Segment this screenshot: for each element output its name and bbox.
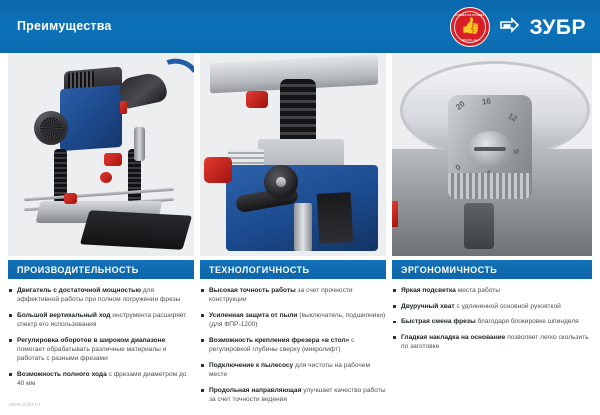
column-body-ergonomics: Яркая подсветка места работы Двуручный х… bbox=[392, 279, 592, 352]
column-heading-ergonomics: ЭРГОНОМИЧНОСТЬ bbox=[392, 260, 592, 279]
bullet-bold: Усиленная защита от пыли bbox=[209, 312, 297, 319]
bullet-bold: Регулировка оборотов в широком диапазоне bbox=[17, 337, 165, 344]
list-item: Регулировка оборотов в широком диапазоне… bbox=[8, 336, 194, 364]
bullet-bold: Гладкая накладка на основание bbox=[401, 334, 505, 341]
left-margin bbox=[0, 53, 8, 256]
depth-lock-lever bbox=[104, 153, 122, 166]
collet-marker bbox=[100, 172, 112, 183]
bullet-bold: Двуручный хват bbox=[401, 303, 455, 310]
depth-rod bbox=[134, 127, 145, 161]
column-heading-performance: ПРОИЗВОДИТЕЛЬНОСТЬ bbox=[8, 260, 194, 279]
turret-number-0: 0 bbox=[454, 163, 463, 173]
bullet-bold: Быстрая смена фрезы bbox=[401, 318, 476, 325]
router-bit bbox=[294, 203, 312, 251]
side-red-knob bbox=[204, 157, 232, 183]
base-slot bbox=[464, 203, 494, 249]
list-item: Двуручный хват с удлиненной основной рук… bbox=[392, 302, 592, 311]
list-item: Продольная направляющая улучшает качеств… bbox=[200, 386, 386, 404]
upper-red-knob bbox=[246, 91, 268, 108]
turret-number-20: 20 bbox=[454, 99, 467, 112]
bullet-bold: Большой вертикальный ход bbox=[17, 312, 110, 319]
trigger-button bbox=[120, 101, 127, 114]
thumbs-up-icon: 👍 bbox=[461, 19, 481, 35]
quality-badge: ЛУЧШЕЕ ИЗ ЛУЧШЕГО 👍 МАРКА №1 bbox=[450, 7, 490, 47]
zubr-arrow-icon bbox=[499, 17, 520, 38]
list-item: Большой вертикальный ход инструмента рас… bbox=[8, 311, 194, 329]
speed-dial-knob bbox=[34, 111, 68, 145]
column-ergonomics: ЭРГОНОМИЧНОСТЬ Яркая подсветка места раб… bbox=[392, 260, 592, 358]
adjust-wheel bbox=[264, 165, 298, 199]
router-mechanism-closeup bbox=[200, 53, 386, 256]
spec-label bbox=[317, 192, 354, 244]
red-edge-accent bbox=[392, 201, 398, 227]
bullet-rest: помогает обрабатывать различные материал… bbox=[17, 346, 166, 362]
column-body-technology: Высокая точность работы за счет прочност… bbox=[200, 279, 386, 404]
brand-name: ЗУБР bbox=[529, 17, 586, 38]
page-header: Преимущества ЛУЧШЕЕ ИЗ ЛУЧШЕГО 👍 МАРКА №… bbox=[0, 0, 600, 53]
badge-text-bottom: МАРКА №1 bbox=[451, 39, 489, 42]
image-gap-2 bbox=[386, 53, 392, 256]
column-performance: ПРОИЗВОДИТЕЛЬНОСТЬ Двигатель с достаточн… bbox=[8, 260, 194, 395]
bullet-rest: места работы bbox=[456, 287, 500, 294]
bullet-bold: Высокая точность работы bbox=[209, 287, 296, 294]
list-item: Двигатель с достаточной мощностью для эф… bbox=[8, 286, 194, 304]
list-item: Гладкая накладка на основание позволяет … bbox=[392, 333, 592, 351]
router-body bbox=[60, 85, 122, 151]
bullet-bold: Возможность крепления фрезера «в стол» bbox=[209, 337, 349, 344]
footer-website-url[interactable]: www.zubr.ru bbox=[9, 402, 40, 408]
parallel-fence bbox=[80, 210, 192, 249]
turret-center-screw bbox=[468, 131, 512, 167]
turret-number-8: 8 bbox=[511, 147, 521, 155]
brand-logo: ЛУЧШЕЕ ИЗ ЛУЧШЕГО 👍 МАРКА №1 ЗУБР bbox=[450, 7, 586, 47]
list-item: Яркая подсветка места работы bbox=[392, 286, 592, 295]
list-item: Возможность полного хода с фрезами диаме… bbox=[8, 370, 194, 388]
turret-number-16: 16 bbox=[481, 96, 491, 106]
product-image-row: 20 16 12 8 4 0 bbox=[0, 53, 600, 256]
bullet-bold: Яркая подсветка bbox=[401, 287, 456, 294]
rail-clamp-knob bbox=[64, 193, 77, 204]
bullet-bold: Подключение к пылесосу bbox=[209, 362, 293, 369]
bullet-bold: Продольная направляющая bbox=[209, 387, 301, 394]
badge-text-top: ЛУЧШЕЕ ИЗ ЛУЧШЕГО bbox=[451, 14, 489, 17]
image-gap-1 bbox=[194, 53, 200, 256]
benefits-columns: ПРОИЗВОДИТЕЛЬНОСТЬ Двигатель с достаточн… bbox=[0, 260, 600, 390]
column-body-performance: Двигатель с достаточной мощностью для эф… bbox=[8, 279, 194, 388]
bullet-rest: с удлиненной основной рукояткой bbox=[455, 303, 561, 310]
page-title: Преимущества bbox=[17, 19, 112, 33]
column-heading-technology: ТЕХНОЛОГИЧНОСТЬ bbox=[200, 260, 386, 279]
bullet-bold: Возможность полного хода bbox=[17, 371, 107, 378]
list-item: Усиленная защита от пыли (выключатель, п… bbox=[200, 311, 386, 329]
depth-turret-closeup: 20 16 12 8 4 0 bbox=[392, 53, 592, 256]
list-item: Подключение к пылесосу для чистоты на ра… bbox=[200, 361, 386, 379]
bullet-rest: благодаря блокировке шпинделя bbox=[476, 318, 579, 325]
screw-slot bbox=[474, 147, 506, 151]
turret-number-12: 12 bbox=[506, 111, 518, 123]
plunge-router-full-view bbox=[8, 53, 194, 256]
list-item: Возможность крепления фрезера «в стол» с… bbox=[200, 336, 386, 354]
list-item: Быстрая смена фрезы благодаря блокировке… bbox=[392, 317, 592, 326]
bullet-bold: Двигатель с достаточной мощностью bbox=[17, 287, 141, 294]
turret-knurling bbox=[448, 173, 532, 199]
list-item: Высокая точность работы за счет прочност… bbox=[200, 286, 386, 304]
column-technology: ТЕХНОЛОГИЧНОСТЬ Высокая точность работы … bbox=[200, 260, 386, 411]
